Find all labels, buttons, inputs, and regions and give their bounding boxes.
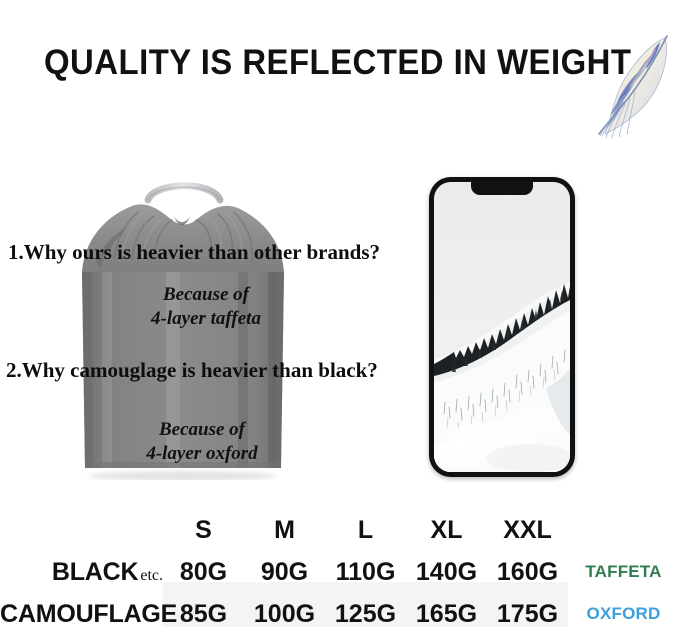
black-weight-l: 110G: [325, 558, 406, 587]
black-weight-xl: 140G: [406, 558, 487, 587]
smartphone-mockup-icon: [429, 177, 575, 477]
row-label-black-sub: etc.: [140, 567, 163, 584]
row-label-black: BLACKetc.: [0, 558, 163, 587]
size-header-l: L: [325, 516, 406, 545]
table-row: BLACKetc. 80G 90G 110G 140G 160G TAFFETA: [0, 552, 679, 592]
camo-weight-s: 85G: [163, 600, 244, 629]
material-badge-taffeta: TAFFETA: [568, 562, 679, 582]
size-header-s: S: [163, 516, 244, 545]
black-weight-s: 80G: [163, 558, 244, 587]
camo-weight-xl: 165G: [406, 600, 487, 629]
row-label-camouflage: CAMOUFLAGE: [0, 600, 163, 629]
row-label-black-main: BLACK: [52, 558, 139, 586]
table-header-row: S M L XL XXL: [0, 511, 679, 549]
answer-2-text: Because of 4-layer oxford: [114, 418, 290, 466]
table-row: CAMOUFLAGE 85G 100G 125G 165G 175G OXFOR…: [0, 594, 679, 634]
size-header-m: M: [244, 516, 325, 545]
feather-icon: [596, 30, 678, 142]
black-weight-xxl: 160G: [487, 558, 568, 587]
question-2-text: 2.Why camouglage is heavier than black?: [6, 358, 378, 383]
phone-notch: [471, 182, 533, 195]
question-1-text: 1.Why ours is heavier than other brands?: [8, 240, 380, 265]
page-title: QUALITY IS REFLECTED IN WEIGHT: [44, 42, 589, 84]
phone-screen: [434, 182, 570, 472]
material-badge-oxford: OXFORD: [568, 604, 679, 624]
black-weight-m: 90G: [244, 558, 325, 587]
camo-weight-xxl: 175G: [487, 600, 568, 629]
size-header-xxl: XXL: [487, 516, 568, 545]
size-header-xl: XL: [406, 516, 487, 545]
size-weight-table: S M L XL XXL BLACKetc. 80G 90G 110G 140G…: [0, 505, 679, 630]
camo-weight-l: 125G: [325, 600, 406, 629]
answer-1-text: Because of 4-layer taffeta: [118, 283, 294, 331]
camo-weight-m: 100G: [244, 600, 325, 629]
row-label-camouflage-main: CAMOUFLAGE: [0, 600, 177, 628]
